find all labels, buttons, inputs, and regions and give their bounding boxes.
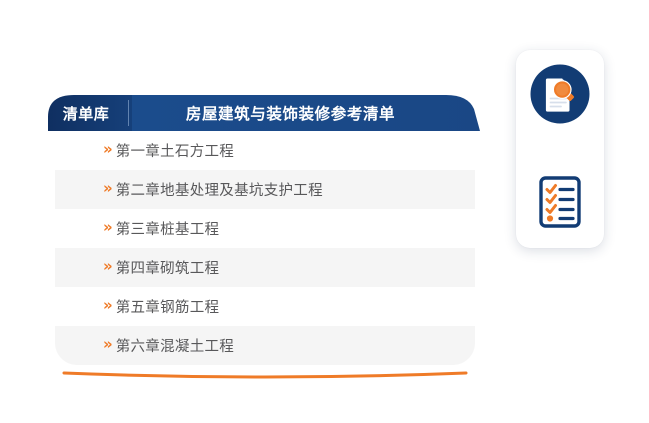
panel-banner: 清单库 房屋建筑与装饰装修参考清单 bbox=[48, 95, 480, 131]
checklist-icon bbox=[539, 176, 581, 228]
page-root: 清单库 房屋建筑与装饰装修参考清单 » 第一章土石方工程 » 第二章地基处理及基… bbox=[0, 0, 649, 423]
orange-curve bbox=[62, 370, 468, 380]
chevron-right-icon: » bbox=[103, 220, 113, 235]
list-item-label: 第四章砌筑工程 bbox=[116, 257, 220, 278]
document-search-icon bbox=[530, 64, 590, 124]
chevron-right-icon: » bbox=[103, 142, 113, 157]
panel-title: 房屋建筑与装饰装修参考清单 bbox=[129, 102, 480, 124]
library-label: 清单库 bbox=[44, 103, 128, 124]
list-item[interactable]: » 第三章桩基工程 bbox=[55, 209, 475, 248]
banner-divider bbox=[128, 100, 129, 126]
list-item-label: 第六章混凝土工程 bbox=[116, 335, 234, 356]
list-item[interactable]: » 第二章地基处理及基坑支护工程 bbox=[55, 170, 475, 209]
list-item[interactable]: » 第一章土石方工程 bbox=[55, 131, 475, 170]
chevron-right-icon: » bbox=[103, 298, 113, 313]
list-item-label: 第三章桩基工程 bbox=[116, 218, 220, 239]
list-item[interactable]: » 第五章钢筋工程 bbox=[55, 287, 475, 326]
icon-card bbox=[516, 50, 604, 248]
list-item[interactable]: » 第四章砌筑工程 bbox=[55, 248, 475, 287]
list-item-label: 第一章土石方工程 bbox=[116, 140, 234, 161]
list-item-label: 第二章地基处理及基坑支护工程 bbox=[116, 179, 323, 200]
chevron-right-icon: » bbox=[103, 337, 113, 352]
chevron-right-icon: » bbox=[103, 181, 113, 196]
list-item-label: 第五章钢筋工程 bbox=[116, 296, 220, 317]
panel-bottom-accent bbox=[62, 365, 468, 375]
chevron-right-icon: » bbox=[103, 259, 113, 274]
list-item[interactable]: » 第六章混凝土工程 bbox=[55, 326, 475, 365]
reference-list-panel: 清单库 房屋建筑与装饰装修参考清单 » 第一章土石方工程 » 第二章地基处理及基… bbox=[48, 95, 480, 375]
chapter-list: » 第一章土石方工程 » 第二章地基处理及基坑支护工程 » 第三章桩基工程 » … bbox=[55, 131, 475, 365]
